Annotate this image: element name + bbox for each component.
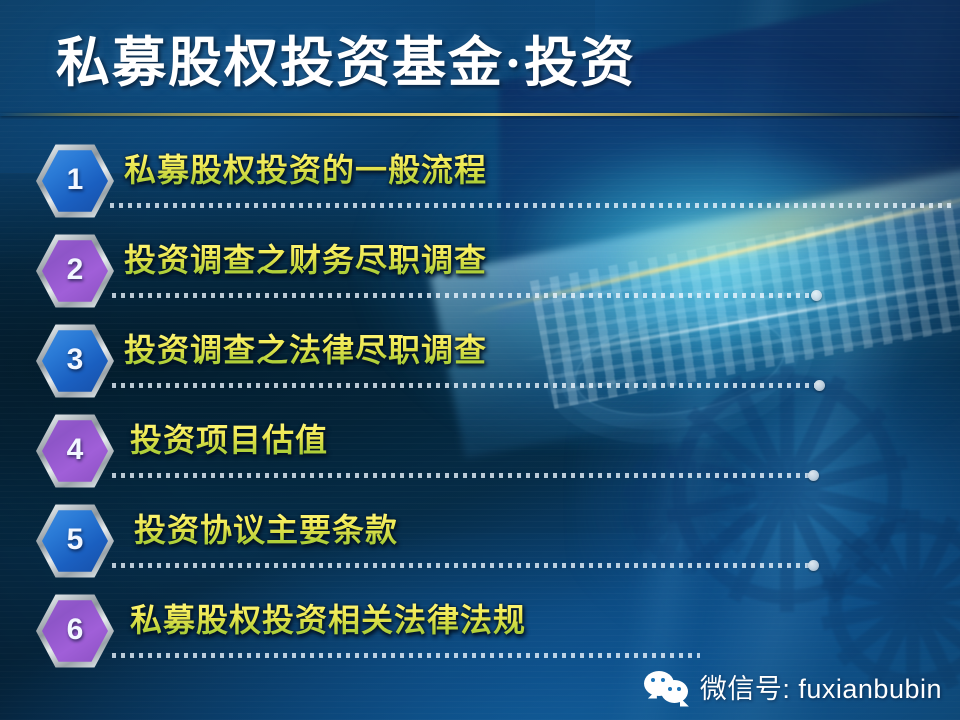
agenda-item[interactable]: 3投资调查之法律尽职调查 [0, 321, 960, 411]
agenda-item-label: 私募股权投资的一般流程 [124, 149, 487, 192]
agenda-item[interactable]: 2投资调查之财务尽职调查 [0, 231, 960, 321]
agenda-item-number: 6 [67, 615, 84, 647]
separator-end-dot [811, 290, 822, 301]
agenda-item-separator [110, 203, 952, 208]
agenda-item-separator [112, 383, 818, 388]
agenda-item-number: 5 [67, 525, 84, 557]
agenda-item[interactable]: 5投资协议主要条款 [0, 501, 960, 591]
agenda-item-number: 4 [67, 435, 84, 467]
agenda-item-separator [112, 293, 815, 298]
agenda-item-badge: 2 [36, 233, 114, 309]
agenda-item-number: 2 [67, 255, 84, 287]
agenda-item-badge: 5 [36, 503, 114, 579]
agenda-item-separator [112, 473, 812, 478]
agenda-item-number: 3 [67, 345, 84, 377]
title-underline [0, 113, 960, 116]
wechat-icon [644, 670, 690, 704]
agenda-item-separator [112, 563, 812, 568]
agenda-item-badge: 4 [36, 413, 114, 489]
agenda-item-number: 1 [67, 165, 84, 197]
page-title: 私募股权投资基金·投资 [56, 34, 636, 93]
watermark-text: 微信号: fuxianbubin [700, 667, 942, 706]
agenda-item-label: 私募股权投资相关法律法规 [130, 599, 526, 642]
watermark: 微信号: fuxianbubin [644, 667, 942, 706]
agenda-item-badge: 6 [36, 593, 114, 669]
agenda-item[interactable]: 4投资项目估值 [0, 411, 960, 501]
agenda-item-label: 投资协议主要条款 [134, 509, 398, 552]
agenda-item-badge: 1 [36, 143, 114, 219]
agenda-item-label: 投资调查之法律尽职调查 [124, 329, 487, 372]
separator-end-dot [814, 380, 825, 391]
agenda-item-label: 投资项目估值 [130, 419, 328, 462]
agenda-item-label: 投资调查之财务尽职调查 [124, 239, 487, 282]
agenda-item-separator [112, 653, 700, 658]
slide-canvas: 私募股权投资基金·投资 1私募股权投资的一般流程2投资调查之财务尽职调查3投资调… [0, 0, 960, 720]
agenda-item-badge: 3 [36, 323, 114, 399]
agenda-item[interactable]: 1私募股权投资的一般流程 [0, 141, 960, 231]
separator-end-dot [808, 560, 819, 571]
separator-end-dot [808, 470, 819, 481]
